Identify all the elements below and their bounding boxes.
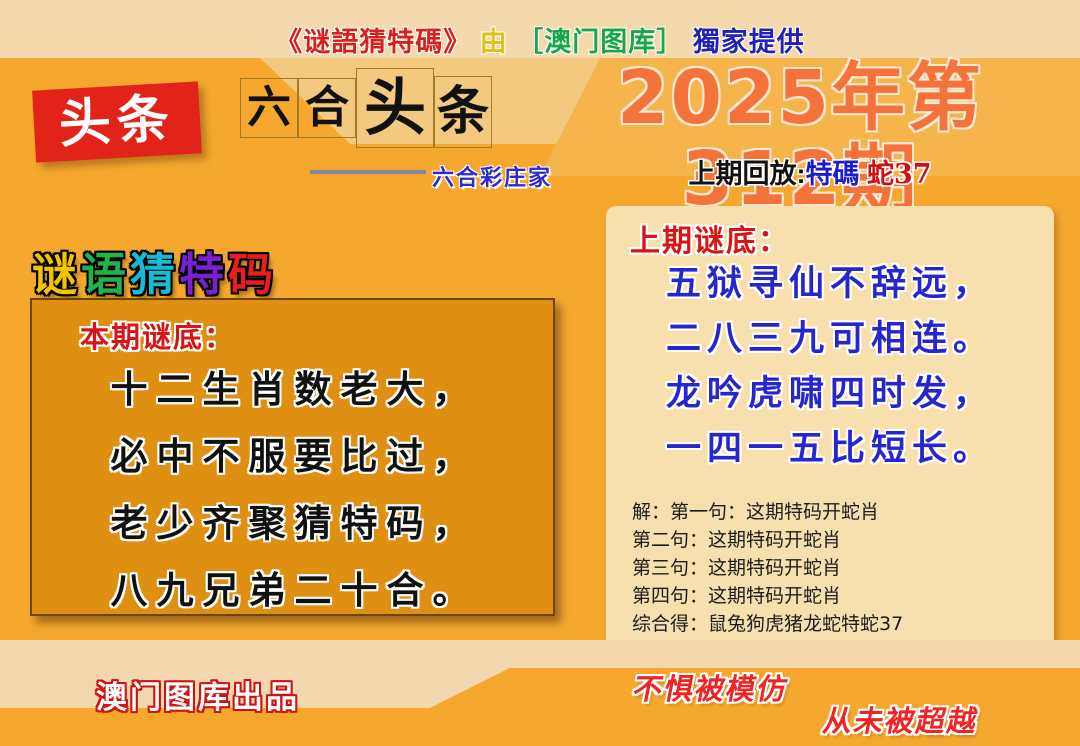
grid-cell-2: 合	[298, 78, 356, 138]
explanation-block: 解：第一句：这期特码开蛇肖 第二句：这期特码开蛇肖 第三句：这期特码开蛇肖 第四…	[632, 498, 1052, 638]
last-draw-review: 上期回放:特碼 蛇37	[560, 152, 1060, 191]
credit-segment-exclusive: 獨家提供	[693, 20, 805, 59]
poster-canvas: 《谜語猜特碼》 由 ［澳门图库］ 獨家提供 头条 六 合 头 条 六合彩庄家 2…	[0, 0, 1080, 746]
credit-segment-by: 由	[480, 20, 508, 59]
rainbow-char-3: 猜	[130, 248, 179, 301]
riddle-line: 十二生肖数老大，	[32, 356, 557, 423]
credit-line: 《谜語猜特碼》 由 ［澳门图库］ 獨家提供	[0, 20, 1080, 59]
answer-line: 五狱寻仙不辞远，	[606, 256, 1054, 311]
riddle-line: 必中不服要比过，	[32, 423, 557, 490]
grid-cell-1: 六	[240, 78, 298, 138]
current-riddle-label: 本期谜底：	[80, 314, 235, 356]
review-prefix: 上期回放:	[688, 159, 805, 189]
current-riddle-lines: 十二生肖数老大， 必中不服要比过， 老少齐聚猜特码， 八九兄弟二十合。	[32, 356, 557, 624]
previous-answer-panel: 上期谜底： 五狱寻仙不辞远， 二八三九可相连。 龙吟虎啸四时发， 一四一五比短长…	[606, 206, 1054, 654]
rainbow-char-5: 码	[228, 248, 277, 301]
credit-segment-title: 《谜語猜特碼》	[275, 20, 471, 59]
answer-line: 龙吟虎啸四时发，	[606, 366, 1054, 421]
sub-slogan: 六合彩庄家	[432, 160, 552, 192]
rainbow-char-2: 语	[81, 248, 130, 301]
explanation-line: 综合得：鼠兔狗虎猪龙蛇特蛇37	[632, 610, 1052, 638]
answer-line: 一四一五比短长。	[606, 421, 1054, 476]
rainbow-char-4: 特	[179, 248, 228, 301]
issue-title: 2025年第312期	[540, 58, 1060, 221]
review-label: 特碼	[805, 159, 859, 189]
riddle-line: 八九兄弟二十合。	[32, 557, 557, 624]
footer-slogan-a: 不惧被模仿	[630, 666, 793, 708]
previous-answer-lines: 五狱寻仙不辞远， 二八三九可相连。 龙吟虎啸四时发， 一四一五比短长。	[606, 256, 1054, 476]
grid-cell-3: 头	[356, 68, 434, 148]
explanation-line: 第三句：这期特码开蛇肖	[632, 554, 1052, 582]
footer-slogan-b: 从未被超越	[820, 698, 983, 740]
explanation-line: 解：第一句：这期特码开蛇肖	[632, 498, 1052, 526]
riddle-line: 老少齐聚猜特码，	[32, 490, 557, 557]
credit-segment-provider: ［澳门图库］	[516, 20, 684, 59]
previous-answer-label: 上期谜底：	[630, 216, 790, 260]
headline-badge: 头条	[32, 81, 202, 162]
review-value: 蛇37	[867, 159, 932, 190]
footer-brand: 澳门图库出品	[96, 672, 300, 717]
divider-rule	[310, 170, 426, 174]
headline-badge-label: 头条	[58, 93, 177, 151]
rainbow-char-1: 谜	[32, 248, 81, 301]
rainbow-heading: 谜语猜特码	[32, 238, 277, 303]
grid-cell-4: 条	[434, 76, 492, 148]
grid-word-logo: 六 合 头 条	[240, 78, 492, 148]
explanation-line: 第四句：这期特码开蛇肖	[632, 582, 1052, 610]
current-riddle-panel: 本期谜底： 十二生肖数老大， 必中不服要比过， 老少齐聚猜特码， 八九兄弟二十合…	[30, 298, 555, 616]
explanation-line: 第二句：这期特码开蛇肖	[632, 526, 1052, 554]
answer-line: 二八三九可相连。	[606, 311, 1054, 366]
